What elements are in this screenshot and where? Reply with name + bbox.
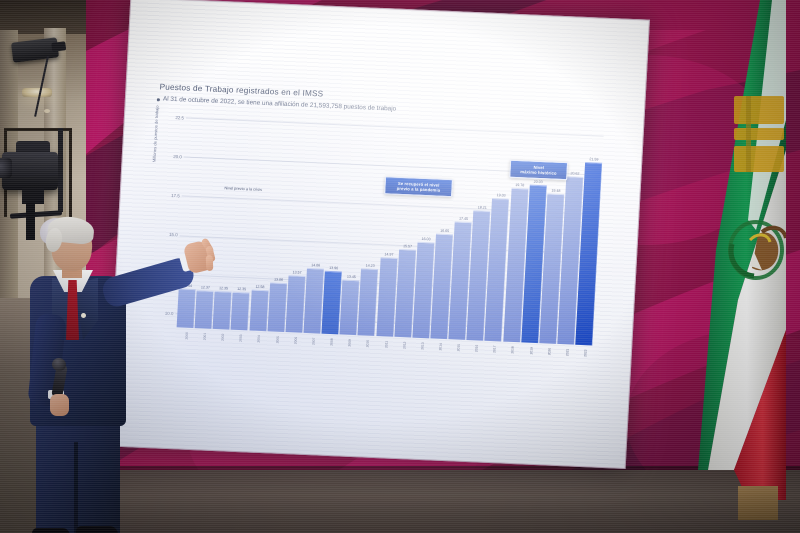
mexican-flag	[698, 0, 794, 520]
trouser-seam	[74, 442, 78, 533]
speaker-shoe-left	[32, 528, 70, 533]
speaker-legs	[36, 418, 120, 533]
speaker-shoe-right	[76, 526, 118, 533]
flag-stand-base	[738, 486, 778, 520]
lapel-pin-icon	[81, 313, 86, 318]
ceiling-light-dot	[44, 109, 50, 113]
flag-cloth	[698, 0, 786, 500]
camera-stand-post	[58, 128, 63, 212]
finger-3	[206, 255, 214, 271]
speaker-hand-holding-mic	[50, 394, 69, 416]
speaker	[8, 218, 198, 533]
camera-lens-icon	[0, 158, 12, 178]
stage-light	[22, 88, 52, 97]
press-conference-scene: Puestos de Trabajo registrados en el IMS…	[0, 0, 800, 533]
